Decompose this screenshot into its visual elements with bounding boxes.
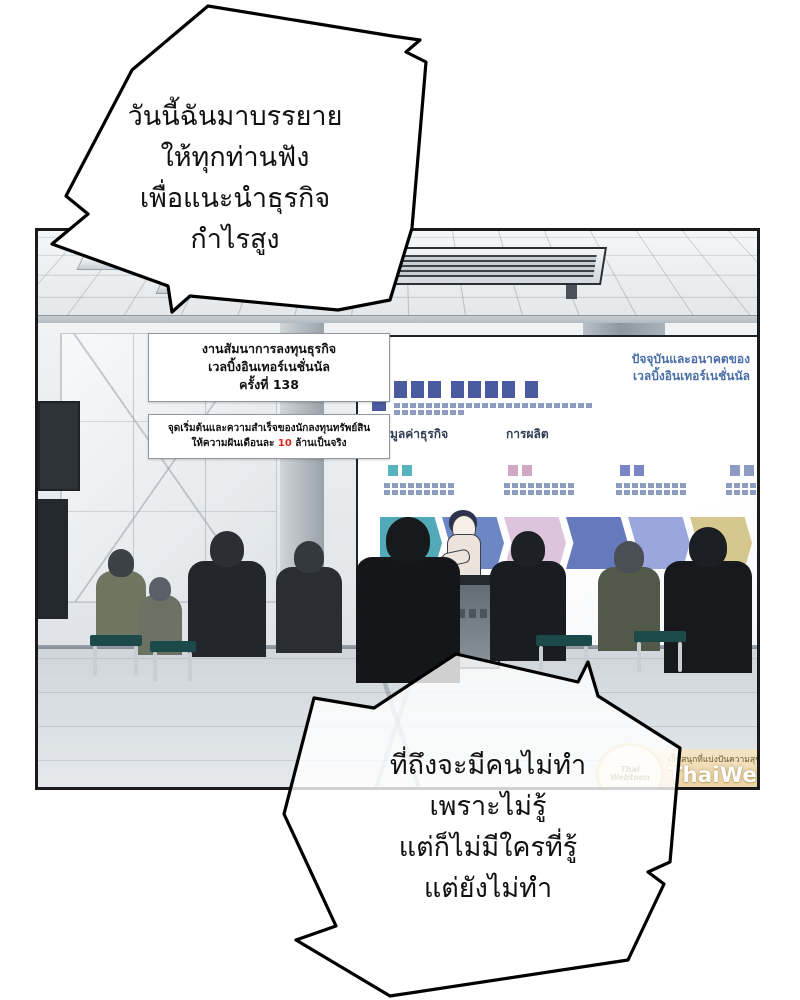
slide-dot — [640, 490, 646, 495]
slide-dot — [520, 483, 526, 488]
slide-dot — [680, 483, 686, 488]
slide-dot — [758, 490, 760, 495]
tagline-banner-line-1: จุดเริ่มต้นและความสำเร็จของนักลงทุนทรัพย… — [155, 421, 383, 436]
audience-head — [294, 541, 324, 573]
slide-dot — [648, 490, 654, 495]
chair-seat — [150, 641, 196, 652]
tagline-banner: จุดเริ่มต้นและความสำเร็จของนักลงทุนทรัพย… — [148, 414, 390, 459]
slide-dot — [440, 490, 446, 495]
audience-body — [188, 561, 266, 657]
slide-block — [451, 381, 464, 398]
speech-bubble-top-text: วันนี้ฉันมาบรรยาย ให้ทุกท่านฟัง เพื่อแนะ… — [40, 96, 430, 260]
tagline-banner-line-2: ให้ความฝันเดือนละ 10 ล้านเป็นจริง — [155, 436, 383, 451]
audience-chair — [150, 641, 196, 685]
bubble-top-line-2: ให้ทุกท่านฟัง — [40, 137, 430, 178]
slide-dot — [522, 403, 528, 408]
slide-dot — [400, 483, 406, 488]
audience-head — [386, 517, 430, 563]
slide-block — [402, 465, 412, 476]
slide-dot — [482, 403, 488, 408]
chair-seat — [90, 635, 142, 646]
slide-dot — [734, 483, 740, 488]
slide-dot — [624, 483, 630, 488]
slide-block — [428, 381, 441, 398]
slide-dot — [448, 490, 454, 495]
slide-dot — [568, 483, 574, 488]
slide-dot — [392, 483, 398, 488]
event-banner-line-1: งานสัมนาการลงทุนธุรกิจ — [155, 340, 383, 358]
slide-dot — [458, 410, 464, 415]
slide-dot — [424, 490, 430, 495]
bubble-top-line-1: วันนี้ฉันมาบรรยาย — [40, 96, 430, 137]
slide-dot — [384, 483, 390, 488]
slide-dot — [434, 403, 440, 408]
slide-block — [634, 465, 644, 476]
slide-block — [485, 381, 498, 398]
event-banner-line-2: เวลบิ้งอินเทอร์เนชั่นนัล — [155, 358, 383, 376]
bubble-top-line-4: กำไรสูง — [40, 219, 430, 260]
chair-leg — [188, 652, 192, 682]
slide-dot — [418, 410, 424, 415]
slide-label-business-value: มูลค่าธุรกิจ — [390, 425, 448, 444]
slide-dot — [734, 490, 740, 495]
audience-head — [149, 577, 171, 601]
slide-block — [730, 465, 740, 476]
slide-dot — [616, 490, 622, 495]
slide-block — [620, 465, 630, 476]
slide-dot — [442, 403, 448, 408]
bubble-top-line-3: เพื่อแนะนำธุรกิจ — [40, 178, 430, 219]
slide-dot — [408, 483, 414, 488]
slide-placeholder-blocks — [394, 381, 538, 398]
slide-dot — [520, 490, 526, 495]
slide-block — [744, 465, 754, 476]
slide-dot — [544, 483, 550, 488]
slide-title: ปัจจุบันและอนาคตของ เวลบิ้งอินเทอร์เนชั่… — [632, 351, 750, 386]
slide-dot — [432, 490, 438, 495]
slide-dot — [624, 490, 630, 495]
slide-dot — [664, 490, 670, 495]
wall-window — [38, 401, 80, 491]
slide-dot — [586, 403, 592, 408]
slide-dot — [648, 483, 654, 488]
slide-dot — [410, 410, 416, 415]
slide-icon-group — [620, 465, 644, 476]
slide-dot — [672, 490, 678, 495]
slide-dot — [680, 490, 686, 495]
event-banner-line-3: ครั้งที่ 138 — [155, 376, 383, 394]
slide-dot — [528, 490, 534, 495]
slide-dot — [512, 483, 518, 488]
slide-dot — [402, 410, 408, 415]
slide-dot — [640, 483, 646, 488]
slide-dot — [536, 483, 542, 488]
chair-leg — [93, 646, 97, 676]
slide-dot — [426, 403, 432, 408]
slide-dot — [578, 403, 584, 408]
slide-dot — [552, 483, 558, 488]
slide-dot — [416, 490, 422, 495]
slide-dot — [440, 483, 446, 488]
slide-dot — [408, 490, 414, 495]
slide-dot — [450, 403, 456, 408]
slide-icon-group — [508, 465, 532, 476]
slide-dot — [544, 490, 550, 495]
slide-dot — [394, 410, 400, 415]
slide-block — [388, 465, 398, 476]
slide-dot — [458, 403, 464, 408]
slide-dot — [742, 490, 748, 495]
slide-dot — [384, 490, 390, 495]
tagline-highlight: 10 — [278, 438, 292, 449]
audience-chair — [90, 635, 142, 679]
slide-dot — [466, 403, 472, 408]
slide-dot — [560, 483, 566, 488]
slide-dot — [400, 490, 406, 495]
slide-dot — [424, 483, 430, 488]
slide-dot — [498, 403, 504, 408]
slide-dot — [530, 403, 536, 408]
slide-dot — [450, 410, 456, 415]
slide-dot — [616, 483, 622, 488]
slide-dot — [528, 483, 534, 488]
slide-dot — [416, 483, 422, 488]
chair-leg — [134, 646, 138, 676]
slide-dot — [394, 403, 400, 408]
slide-dot — [632, 483, 638, 488]
slide-icon-group — [388, 465, 412, 476]
slide-dot — [418, 403, 424, 408]
speech-bubble-bottom-text: ที่ถึงจะมีคนไม่ทำ เพราะไม่รู้ แต่ก็ไม่มี… — [278, 745, 698, 909]
slide-dot — [504, 490, 510, 495]
slide-dot — [726, 483, 732, 488]
slide-dot — [514, 403, 520, 408]
slide-block — [394, 381, 407, 398]
slide-dot — [442, 410, 448, 415]
slide-dot — [664, 483, 670, 488]
wall-door — [38, 499, 68, 619]
audience-head — [108, 549, 134, 577]
slide-dot — [656, 490, 662, 495]
slide-icon-group — [730, 465, 754, 476]
slide-title-line-1: ปัจจุบันและอนาคตของ — [632, 351, 750, 368]
slide-dot — [554, 403, 560, 408]
slide-placeholder-dots — [616, 483, 686, 495]
speech-bubble-top: วันนี้ฉันมาบรรยาย ให้ทุกท่านฟัง เพื่อแนะ… — [40, 0, 430, 330]
slide-dot — [536, 490, 542, 495]
slide-dot — [426, 410, 432, 415]
slide-dot — [490, 403, 496, 408]
slide-dot — [506, 403, 512, 408]
bubble-bottom-line-4: แต่ยังไม่ทำ — [278, 868, 698, 909]
slide-placeholder-dots — [394, 403, 594, 415]
slide-dot — [432, 483, 438, 488]
slide-dot — [562, 403, 568, 408]
slide-dot — [568, 490, 574, 495]
slide-dot — [656, 483, 662, 488]
slide-dot — [474, 403, 480, 408]
slide-dot — [402, 403, 408, 408]
slide-dot — [504, 483, 510, 488]
slide-dot — [546, 403, 552, 408]
slide-title-line-2: เวลบิ้งอินเทอร์เนชั่นนัล — [632, 368, 750, 385]
audience-head — [511, 531, 545, 567]
bubble-bottom-line-1: ที่ถึงจะมีคนไม่ทำ — [278, 745, 698, 786]
slide-dot — [750, 483, 756, 488]
chair-leg — [153, 652, 157, 682]
slide-dot — [632, 490, 638, 495]
slide-dot — [726, 490, 732, 495]
slide-block — [468, 381, 481, 398]
slide-dot — [758, 483, 760, 488]
slide-placeholder-dots — [504, 483, 574, 495]
slide-dot — [750, 490, 756, 495]
audience-head — [689, 527, 727, 567]
slide-dot — [560, 490, 566, 495]
bubble-bottom-line-2: เพราะไม่รู้ — [278, 786, 698, 827]
slide-dot — [392, 490, 398, 495]
slide-dot — [434, 410, 440, 415]
tagline-suffix: ล้านเป็นจริง — [292, 438, 347, 449]
bubble-bottom-line-3: แต่ก็ไม่มีใครที่รู้ — [278, 827, 698, 868]
slide-block — [525, 381, 538, 398]
tagline-prefix: ให้ความฝันเดือนละ — [191, 438, 277, 449]
slide-dot — [570, 403, 576, 408]
event-banner: งานสัมนาการลงทุนธุรกิจ เวลบิ้งอินเทอร์เน… — [148, 333, 390, 402]
audience-head — [614, 541, 644, 573]
slide-dot — [672, 483, 678, 488]
slide-block — [411, 381, 424, 398]
slide-dot — [448, 483, 454, 488]
slide-dot — [538, 403, 544, 408]
slide-dot — [742, 483, 748, 488]
slide-dot — [512, 490, 518, 495]
slide-block — [522, 465, 532, 476]
slide-placeholder-dots — [384, 483, 454, 495]
slide-dot — [552, 490, 558, 495]
speech-bubble-bottom: ที่ถึงจะมีคนไม่ทำ เพราะไม่รู้ แต่ก็ไม่มี… — [278, 640, 698, 1000]
audience-head — [210, 531, 244, 567]
slide-placeholder-dots — [726, 483, 760, 495]
slide-dot — [410, 403, 416, 408]
slide-block — [508, 465, 518, 476]
slide-label-production: การผลิต — [506, 425, 549, 444]
slide-block — [502, 381, 515, 398]
